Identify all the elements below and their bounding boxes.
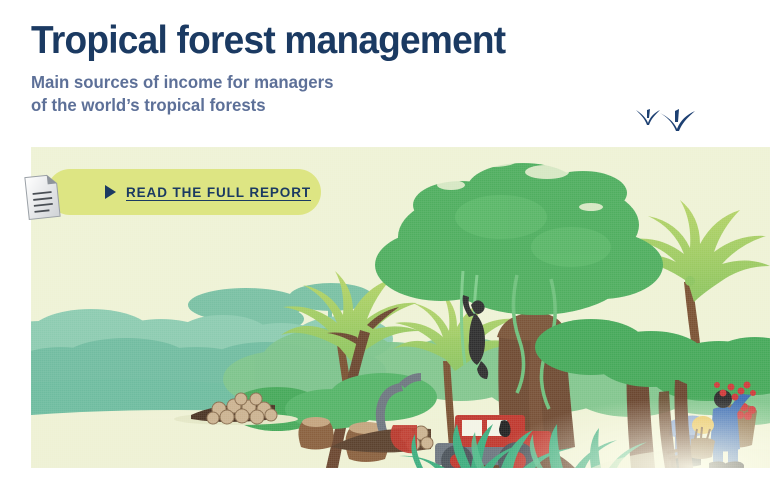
page-title: Tropical forest management: [31, 18, 601, 64]
read-full-report-label[interactable]: READ THE FULL REPORT: [126, 185, 311, 200]
page-subtitle-line-1: Main sources of income for managers: [31, 71, 607, 94]
page-subtitle: Main sources of income for managers of t…: [31, 71, 607, 117]
read-full-report-button[interactable]: READ THE FULL REPORT: [47, 169, 321, 215]
page-subtitle-line-2: of the world’s tropical forests: [31, 94, 607, 117]
document-icon: [22, 173, 62, 221]
play-triangle-icon: [105, 185, 116, 199]
infographic-page: Tropical forest management Main sources …: [0, 0, 770, 477]
birds-icon: [632, 104, 702, 138]
header: Tropical forest management Main sources …: [31, 18, 631, 117]
